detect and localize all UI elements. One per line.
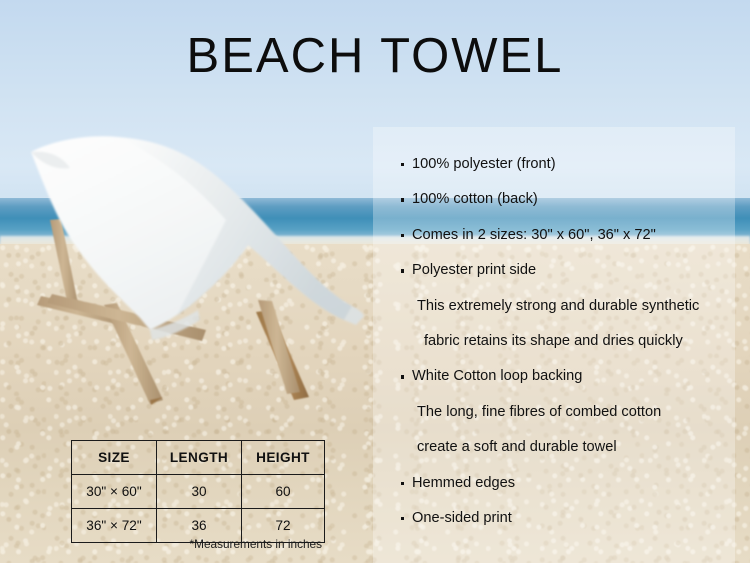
feature-text: White Cotton loop backing [412, 368, 582, 384]
table-header-length: LENGTH [157, 441, 242, 475]
feature-text: Hemmed edges [412, 475, 515, 491]
page-title: BEACH TOWEL [0, 28, 750, 84]
feature-subtext: create a soft and durable towel [398, 430, 738, 465]
feature-text: 100% polyester (front) [412, 156, 556, 172]
feature-item: Hemmed edges [398, 466, 738, 501]
table-row: 30" × 60" 30 60 [72, 475, 325, 509]
bullet-icon [401, 163, 404, 166]
feature-item: 100% cotton (back) [398, 182, 738, 217]
table-header-row: SIZE LENGTH HEIGHT [72, 441, 325, 475]
feature-subtext: This extremely strong and durable synthe… [398, 289, 738, 324]
feature-subtext: fabric retains its shape and dries quick… [398, 324, 738, 359]
bullet-icon [401, 375, 404, 378]
size-table: SIZE LENGTH HEIGHT 30" × 60" 30 60 36" ×… [71, 440, 325, 543]
chair-front-leg-right [258, 300, 300, 394]
table-cell-size: 30" × 60" [72, 475, 157, 509]
bullet-icon [401, 234, 404, 237]
table-footnote: *Measurements in inches [71, 537, 322, 551]
bullet-icon [401, 517, 404, 520]
feature-item: Comes in 2 sizes: 30" x 60", 36" x 72" [398, 218, 738, 253]
feature-text: fabric retains its shape and dries quick… [424, 333, 683, 349]
feature-item: One-sided print [398, 501, 738, 536]
feature-text: 100% cotton (back) [412, 191, 538, 207]
feature-text: This extremely strong and durable synthe… [417, 298, 699, 314]
table-cell-height: 60 [242, 475, 325, 509]
size-table-container: SIZE LENGTH HEIGHT 30" × 60" 30 60 36" ×… [71, 440, 325, 543]
table-header-size: SIZE [72, 441, 157, 475]
infographic-canvas: BEACH TOWEL 100% polyester (front) 100% … [0, 0, 750, 563]
feature-item: 100% polyester (front) [398, 147, 738, 182]
feature-item: Polyester print side [398, 253, 738, 288]
bullet-icon [401, 198, 404, 201]
bullet-icon [401, 269, 404, 272]
feature-text: Comes in 2 sizes: 30" x 60", 36" x 72" [412, 227, 656, 243]
feature-subtext: The long, fine fibres of combed cotton [398, 395, 738, 430]
feature-text: create a soft and durable towel [417, 439, 617, 455]
feature-text: The long, fine fibres of combed cotton [417, 404, 661, 420]
feature-text: Polyester print side [412, 262, 536, 278]
feature-item: White Cotton loop backing [398, 359, 738, 394]
table-header-height: HEIGHT [242, 441, 325, 475]
feature-text: One-sided print [412, 510, 512, 526]
table-cell-length: 30 [157, 475, 242, 509]
bullet-icon [401, 482, 404, 485]
feature-list: 100% polyester (front) 100% cotton (back… [398, 147, 738, 536]
